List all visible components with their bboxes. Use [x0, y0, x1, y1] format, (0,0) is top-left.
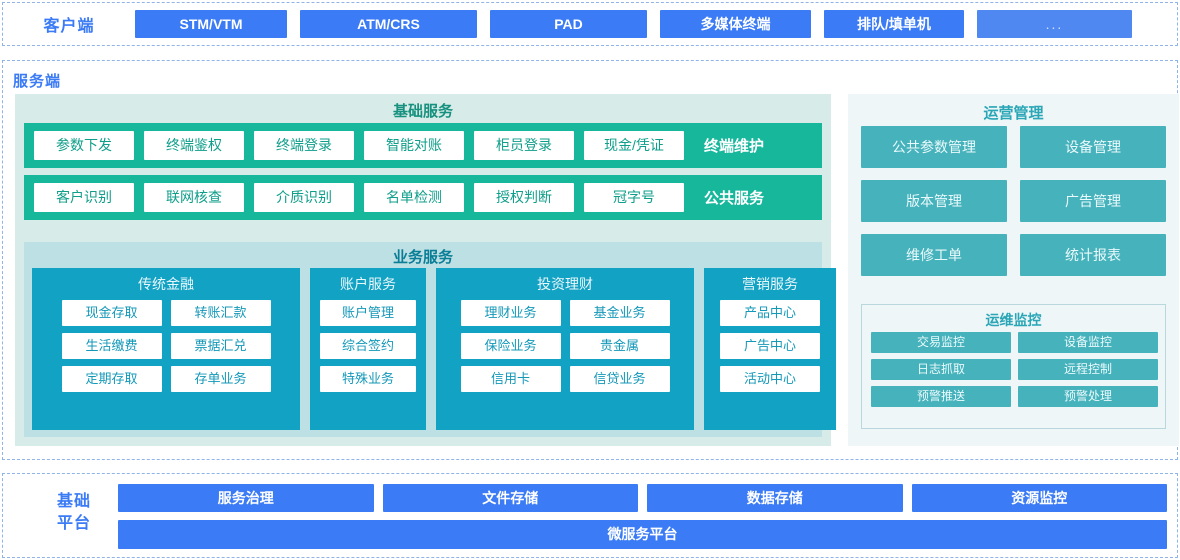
business-cell[interactable]: 存单业务: [171, 366, 271, 392]
platform-section: 基础 平台 服务治理文件存储数据存储资源监控 微服务平台: [2, 473, 1178, 558]
basic-service-cell[interactable]: 介质识别: [254, 183, 354, 212]
business-column-cells: 账户管理综合签约特殊业务: [320, 300, 416, 392]
operations-panel: 运营管理 公共参数管理设备管理版本管理广告管理维修工单统计报表 运维监控 交易监…: [848, 94, 1179, 446]
client-button-3[interactable]: PAD: [490, 10, 647, 38]
business-cell[interactable]: 转账汇款: [171, 300, 271, 326]
monitoring-button-grid: 交易监控设备监控日志抓取远程控制预警推送预警处理: [871, 332, 1158, 407]
architecture-diagram: 客户端 STM/VTMATM/CRSPAD多媒体终端排队/填单机... 服务端 …: [0, 0, 1180, 560]
server-section-label: 服务端: [13, 70, 61, 91]
basic-service-cell[interactable]: 参数下发: [34, 131, 134, 160]
business-cell[interactable]: 贵金属: [570, 333, 670, 359]
basic-service-title: 基础服务: [15, 94, 831, 121]
monitoring-box: 运维监控 交易监控设备监控日志抓取远程控制预警推送预警处理: [861, 304, 1166, 429]
business-cell[interactable]: 票据汇兑: [171, 333, 271, 359]
platform-section-label: 基础 平台: [29, 491, 119, 535]
basic-and-business-panel: 基础服务 参数下发终端鉴权终端登录智能对账柜员登录现金/凭证终端维护客户识别联网…: [15, 94, 831, 446]
platform-top-buttons: 服务治理文件存储数据存储资源监控: [118, 484, 1167, 512]
monitoring-title: 运维监控: [862, 305, 1165, 330]
business-service-block: 业务服务 传统金融现金存取转账汇款生活缴费票据汇兑定期存取存单业务账户服务账户管…: [24, 242, 822, 437]
basic-service-cell[interactable]: 终端鉴权: [144, 131, 244, 160]
business-column-4: 营销服务产品中心广告中心活动中心: [704, 268, 836, 430]
business-column-cells: 现金存取转账汇款生活缴费票据汇兑定期存取存单业务: [42, 300, 290, 392]
business-cell[interactable]: 特殊业务: [320, 366, 416, 392]
client-button-1[interactable]: STM/VTM: [135, 10, 287, 38]
business-column-cells: 理财业务基金业务保险业务贵金属信用卡信贷业务: [446, 300, 684, 392]
operations-button[interactable]: 维修工单: [861, 234, 1007, 276]
basic-service-row-label: 终端维护: [694, 135, 774, 156]
operations-button[interactable]: 设备管理: [1020, 126, 1166, 168]
client-button-6[interactable]: ...: [977, 10, 1132, 38]
server-section: 服务端 基础服务 参数下发终端鉴权终端登录智能对账柜员登录现金/凭证终端维护客户…: [2, 60, 1178, 460]
basic-service-cell[interactable]: 柜员登录: [474, 131, 574, 160]
monitoring-button[interactable]: 预警推送: [871, 386, 1011, 407]
business-cell[interactable]: 保险业务: [461, 333, 561, 359]
business-column-title: 传统金融: [42, 274, 290, 294]
monitoring-button[interactable]: 预警处理: [1018, 386, 1158, 407]
client-button-4[interactable]: 多媒体终端: [660, 10, 811, 38]
basic-service-row-label: 公共服务: [694, 187, 774, 208]
business-cell[interactable]: 信用卡: [461, 366, 561, 392]
business-column-title: 投资理财: [446, 274, 684, 294]
business-cell[interactable]: 产品中心: [720, 300, 820, 326]
basic-service-cell[interactable]: 客户识别: [34, 183, 134, 212]
basic-service-cell[interactable]: 现金/凭证: [584, 131, 684, 160]
business-column-title: 账户服务: [320, 274, 416, 294]
business-cell[interactable]: 信贷业务: [570, 366, 670, 392]
operations-button[interactable]: 公共参数管理: [861, 126, 1007, 168]
business-column-2: 账户服务账户管理综合签约特殊业务: [310, 268, 426, 430]
client-row: 客户端 STM/VTMATM/CRSPAD多媒体终端排队/填单机...: [3, 3, 1177, 45]
operations-button-grid: 公共参数管理设备管理版本管理广告管理维修工单统计报表: [861, 126, 1166, 276]
business-cell[interactable]: 定期存取: [62, 366, 162, 392]
business-cell[interactable]: 广告中心: [720, 333, 820, 359]
operations-title: 运营管理: [848, 94, 1179, 123]
basic-service-row-2: 客户识别联网核查介质识别名单检测授权判断冠字号公共服务: [24, 175, 822, 220]
client-button-2[interactable]: ATM/CRS: [300, 10, 477, 38]
client-items: STM/VTMATM/CRSPAD多媒体终端排队/填单机...: [135, 10, 1145, 38]
platform-button[interactable]: 资源监控: [912, 484, 1168, 512]
basic-service-cell[interactable]: 联网核查: [144, 183, 244, 212]
basic-service-cell[interactable]: 名单检测: [364, 183, 464, 212]
basic-service-cell[interactable]: 智能对账: [364, 131, 464, 160]
platform-label-line2: 平台: [29, 513, 119, 535]
business-column-1: 传统金融现金存取转账汇款生活缴费票据汇兑定期存取存单业务: [32, 268, 300, 430]
basic-service-row-1: 参数下发终端鉴权终端登录智能对账柜员登录现金/凭证终端维护: [24, 123, 822, 168]
monitoring-button[interactable]: 远程控制: [1018, 359, 1158, 380]
platform-wide-button[interactable]: 微服务平台: [118, 520, 1167, 549]
basic-service-cell[interactable]: 授权判断: [474, 183, 574, 212]
monitoring-button[interactable]: 交易监控: [871, 332, 1011, 353]
operations-button[interactable]: 广告管理: [1020, 180, 1166, 222]
monitoring-button[interactable]: 设备监控: [1018, 332, 1158, 353]
business-cell[interactable]: 现金存取: [62, 300, 162, 326]
platform-label-line1: 基础: [29, 491, 119, 513]
basic-service-cell[interactable]: 冠字号: [584, 183, 684, 212]
operations-button[interactable]: 统计报表: [1020, 234, 1166, 276]
operations-button[interactable]: 版本管理: [861, 180, 1007, 222]
monitoring-button[interactable]: 日志抓取: [871, 359, 1011, 380]
basic-service-cell[interactable]: 终端登录: [254, 131, 354, 160]
platform-button[interactable]: 服务治理: [118, 484, 374, 512]
client-section-label: 客户端: [3, 12, 135, 36]
platform-rows: 服务治理文件存储数据存储资源监控 微服务平台: [118, 484, 1167, 547]
client-button-5[interactable]: 排队/填单机: [824, 10, 964, 38]
business-cell[interactable]: 理财业务: [461, 300, 561, 326]
business-column-cells: 产品中心广告中心活动中心: [714, 300, 826, 392]
platform-button[interactable]: 文件存储: [383, 484, 639, 512]
business-service-title: 业务服务: [24, 242, 822, 267]
business-column-3: 投资理财理财业务基金业务保险业务贵金属信用卡信贷业务: [436, 268, 694, 430]
business-cell[interactable]: 账户管理: [320, 300, 416, 326]
business-cell[interactable]: 基金业务: [570, 300, 670, 326]
platform-button[interactable]: 数据存储: [647, 484, 903, 512]
client-section: 客户端 STM/VTMATM/CRSPAD多媒体终端排队/填单机...: [2, 2, 1178, 46]
business-cell[interactable]: 活动中心: [720, 366, 820, 392]
business-cell[interactable]: 生活缴费: [62, 333, 162, 359]
business-service-columns: 传统金融现金存取转账汇款生活缴费票据汇兑定期存取存单业务账户服务账户管理综合签约…: [32, 268, 814, 430]
business-column-title: 营销服务: [714, 274, 826, 294]
business-cell[interactable]: 综合签约: [320, 333, 416, 359]
